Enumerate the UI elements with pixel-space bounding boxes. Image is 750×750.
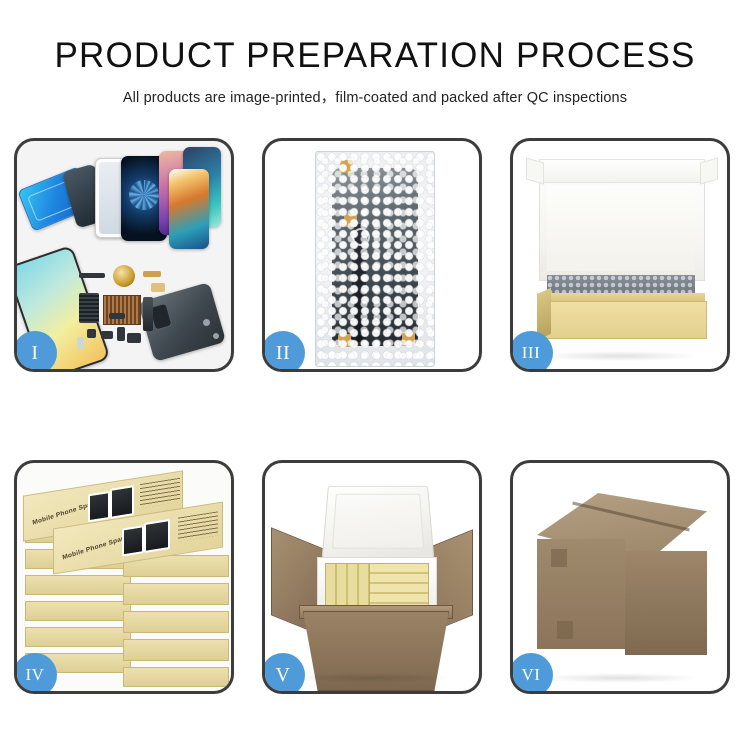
process-step-panel-5[interactable]: V [262, 460, 482, 694]
box-open-lid [539, 159, 705, 183]
step-1-illustration [17, 141, 231, 369]
tape-piece [344, 214, 357, 227]
bubble-wrap-package [315, 151, 435, 367]
drop-shadow [541, 673, 699, 683]
tape-piece [338, 334, 351, 347]
box-print-text-lines [178, 511, 218, 541]
camera-hole [352, 228, 370, 246]
foam-cooler-lid [322, 486, 435, 559]
box-print-text-lines [140, 478, 180, 508]
stacked-box [25, 601, 131, 621]
stacked-box [123, 639, 229, 661]
stacked-box [25, 627, 131, 647]
spare-part [79, 273, 105, 278]
spare-part [101, 331, 113, 339]
page-title: PRODUCT PREPARATION PROCESS [0, 38, 750, 75]
box-print-window [144, 519, 170, 553]
orange-teal-phone [169, 169, 209, 249]
spare-part [151, 283, 165, 292]
step-3-illustration [513, 141, 727, 369]
spare-part [143, 271, 161, 277]
spare-part [203, 319, 210, 326]
step-5-illustration [265, 463, 479, 691]
process-step-panel-4[interactable]: Mobile Phone Spare Parts Mobile Phone Sp… [14, 460, 234, 694]
spare-part [127, 333, 141, 343]
spare-part [213, 333, 219, 339]
white-foam-sheet [547, 185, 695, 271]
stacked-box [123, 611, 229, 633]
box-print-window [110, 485, 134, 519]
logic-board-chip [103, 295, 141, 325]
packed-boxes-secondary [369, 563, 429, 609]
carton-tape-lower [557, 621, 573, 639]
wrapped-screen [332, 168, 418, 346]
step-badge-6: VI [510, 653, 553, 694]
step-badge-2: II [262, 331, 305, 372]
step-2-illustration [265, 141, 479, 369]
drop-shadow [541, 351, 699, 361]
stacked-box [123, 583, 229, 605]
tape-piece [402, 332, 415, 345]
spare-part [117, 327, 125, 341]
process-steps-grid: I II [14, 138, 736, 694]
step-6-illustration [513, 463, 727, 691]
spare-part [109, 313, 125, 319]
process-step-panel-1[interactable]: I [14, 138, 234, 372]
spare-part [87, 329, 96, 338]
spare-part [77, 337, 84, 349]
process-step-panel-2[interactable]: II [262, 138, 482, 372]
carton-tape-upper [551, 549, 567, 567]
drop-shadow [293, 673, 451, 683]
spare-part [143, 297, 153, 331]
process-step-panel-3[interactable]: III [510, 138, 730, 372]
stacked-box [123, 667, 229, 687]
carton-side-face [625, 551, 707, 655]
page-header: PRODUCT PREPARATION PROCESS All products… [0, 0, 750, 107]
tape-piece [340, 160, 353, 173]
step-badge-3: III [510, 331, 553, 372]
kraft-box-front [537, 301, 707, 339]
process-step-panel-6[interactable]: VI [510, 460, 730, 694]
vibration-motor-part [113, 265, 135, 287]
spare-part [79, 293, 99, 323]
step-badge-5: V [262, 653, 305, 694]
step-badge-4: IV [14, 653, 57, 694]
step-4-illustration: Mobile Phone Spare Parts Mobile Phone Sp… [17, 463, 231, 691]
stacked-box [25, 575, 131, 595]
page-subtitle: All products are image-printed，film-coat… [0, 86, 750, 107]
step-badge-1: I [14, 331, 57, 372]
box-print-window [122, 525, 144, 556]
box-print-window [88, 491, 110, 522]
